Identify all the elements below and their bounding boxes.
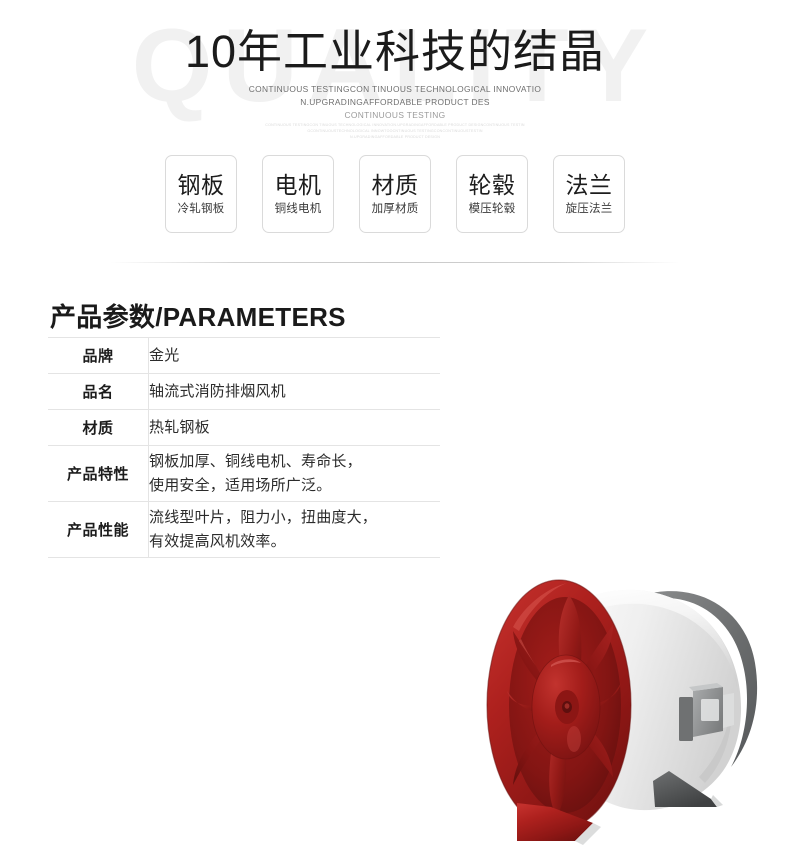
parameter-label: 品牌	[48, 338, 149, 374]
feature-badge-subtitle: 模压轮毂	[469, 203, 516, 216]
hero-banner: QUALITY 10年工业科技的结晶 CONTINUOUS TESTINGCON…	[0, 0, 790, 263]
parameter-value: 热轧钢板	[149, 410, 441, 446]
parameters-heading: 产品参数/PARAMETERS	[50, 297, 346, 334]
table-row: 品牌金光	[48, 338, 440, 374]
table-row: 材质热轧钢板	[48, 410, 440, 446]
parameter-value-line: 金光	[149, 344, 440, 367]
parameter-label: 品名	[48, 374, 149, 410]
table-row: 产品特性钢板加厚、铜线电机、寿命长，使用安全，适用场所广泛。	[48, 446, 440, 502]
feature-badge-row: 钢板冷轧钢板电机铜线电机材质加厚材质轮毂模压轮毂法兰旋压法兰	[0, 155, 790, 233]
feature-badge-subtitle: 冷轧钢板	[178, 203, 225, 216]
fan-hub	[532, 655, 600, 759]
hero-subtitle-line-2: N.UPGRADINGAFFORDABLE PRODUCT DES	[0, 97, 790, 107]
parameter-value: 轴流式消防排烟风机	[149, 374, 441, 410]
hero-microtext-line-2: GCONTINUOUSTECHNOLOGICAL INNOWTOOCNTINUO…	[0, 129, 790, 133]
parameter-value-line: 轴流式消防排烟风机	[149, 380, 440, 403]
feature-badge-4: 轮毂模压轮毂	[456, 155, 528, 233]
parameter-value: 金光	[149, 338, 441, 374]
feature-badge-3: 材质加厚材质	[359, 155, 431, 233]
feature-badge-title: 电机	[275, 173, 322, 198]
parameter-value-line: 有效提高风机效率。	[149, 530, 440, 553]
hero-microtext-line-3: N.UPGRADINGAFFORDABLE PRODUCT DESIGN	[0, 135, 790, 139]
parameter-value-line: 流线型叶片，阻力小，扭曲度大，	[149, 506, 440, 529]
hero-subtitle-line-1: CONTINUOUS TESTINGCON TINUOUS TECHNOLOGI…	[0, 84, 790, 94]
feature-badge-2: 电机铜线电机	[262, 155, 334, 233]
hero-subtitle-line-3: CONTINUOUS TESTING	[0, 110, 790, 120]
parameter-label: 产品特性	[48, 446, 149, 502]
parameters-table: 品牌金光品名轴流式消防排烟风机材质热轧钢板产品特性钢板加厚、铜线电机、寿命长，使…	[48, 337, 440, 558]
parameter-value-line: 钢板加厚、铜线电机、寿命长，	[149, 450, 440, 473]
table-row: 产品性能流线型叶片，阻力小，扭曲度大，有效提高风机效率。	[48, 502, 440, 558]
parameter-value-line: 使用安全，适用场所广泛。	[149, 474, 440, 497]
feature-badge-subtitle: 加厚材质	[372, 203, 419, 216]
feature-badge-5: 法兰旋压法兰	[553, 155, 625, 233]
feature-badge-1: 钢板冷轧钢板	[165, 155, 237, 233]
feature-badge-title: 法兰	[566, 173, 613, 198]
feature-badge-subtitle: 铜线电机	[275, 203, 322, 216]
page-title: 10年工业科技的结晶	[0, 25, 790, 78]
parameter-label: 材质	[48, 410, 149, 446]
parameter-value: 钢板加厚、铜线电机、寿命长，使用安全，适用场所广泛。	[149, 446, 441, 502]
parameter-value: 流线型叶片，阻力小，扭曲度大，有效提高风机效率。	[149, 502, 441, 558]
hero-microtext-line-1: CONTINUOUS TESTINGCON TINUOUS TECHNOLOGI…	[0, 123, 790, 127]
parameters-section: 产品参数/PARAMETERS 品牌金光品名轴流式消防排烟风机材质热轧钢板产品特…	[0, 263, 790, 621]
parameter-label: 产品性能	[48, 502, 149, 558]
feature-badge-title: 轮毂	[469, 173, 516, 198]
feature-badge-title: 材质	[372, 173, 419, 198]
feature-badge-subtitle: 旋压法兰	[566, 203, 613, 216]
table-row: 品名轴流式消防排烟风机	[48, 374, 440, 410]
feature-badge-title: 钢板	[178, 173, 225, 198]
product-image-axial-fan	[455, 555, 775, 855]
parameter-value-line: 热轧钢板	[149, 416, 440, 439]
